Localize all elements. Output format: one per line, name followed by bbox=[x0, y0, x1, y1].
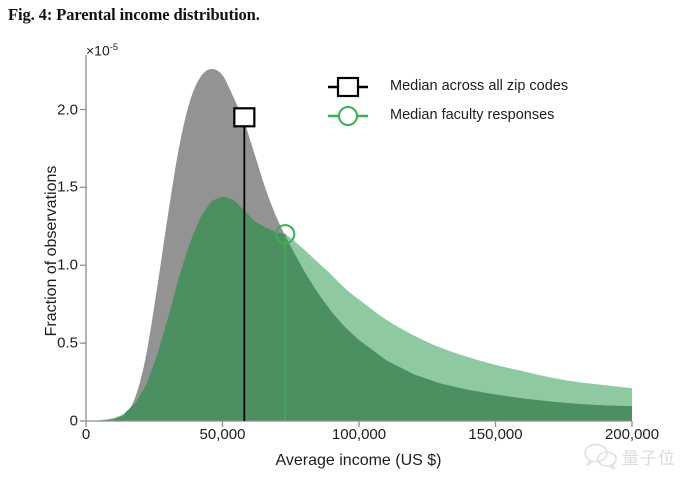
legend-square-marker bbox=[338, 78, 358, 96]
x-axis-title: Average income (US $) bbox=[86, 452, 631, 470]
watermark-label: 量子位 bbox=[622, 444, 676, 469]
legend-entry-label: Median across all zip codes bbox=[390, 78, 568, 94]
y-axis-multiplier-exponent: -5 bbox=[110, 42, 118, 53]
plot-canvas bbox=[0, 0, 700, 482]
y-tick-label: 1.0 bbox=[57, 257, 78, 274]
parental-income-distribution-chart: ×10-5 Fraction of observations Average i… bbox=[0, 0, 700, 482]
legend-marker-glyphs bbox=[328, 78, 368, 125]
median-zip-marker bbox=[234, 108, 254, 126]
y-tick-label: 1.5 bbox=[57, 179, 78, 196]
x-tick-label: 50,000 bbox=[200, 426, 246, 443]
y-axis-ticks bbox=[80, 110, 86, 421]
legend-entry-label: Median faculty responses bbox=[390, 107, 554, 123]
y-axis-multiplier-base: ×10 bbox=[86, 43, 110, 59]
x-tick-label: 100,000 bbox=[332, 426, 386, 443]
x-tick-label: 150,000 bbox=[468, 426, 522, 443]
y-tick-label: 0 bbox=[70, 413, 78, 430]
y-tick-label: 0.5 bbox=[57, 335, 78, 352]
y-axis-multiplier: ×10-5 bbox=[86, 42, 118, 59]
wechat-watermark: 量子位 bbox=[584, 438, 694, 474]
wechat-icon bbox=[584, 443, 618, 469]
y-axis-title: Fraction of observations bbox=[43, 91, 61, 411]
x-tick-label: 0 bbox=[82, 426, 90, 443]
y-tick-label: 2.0 bbox=[57, 101, 78, 118]
legend-circle-marker bbox=[339, 107, 357, 125]
